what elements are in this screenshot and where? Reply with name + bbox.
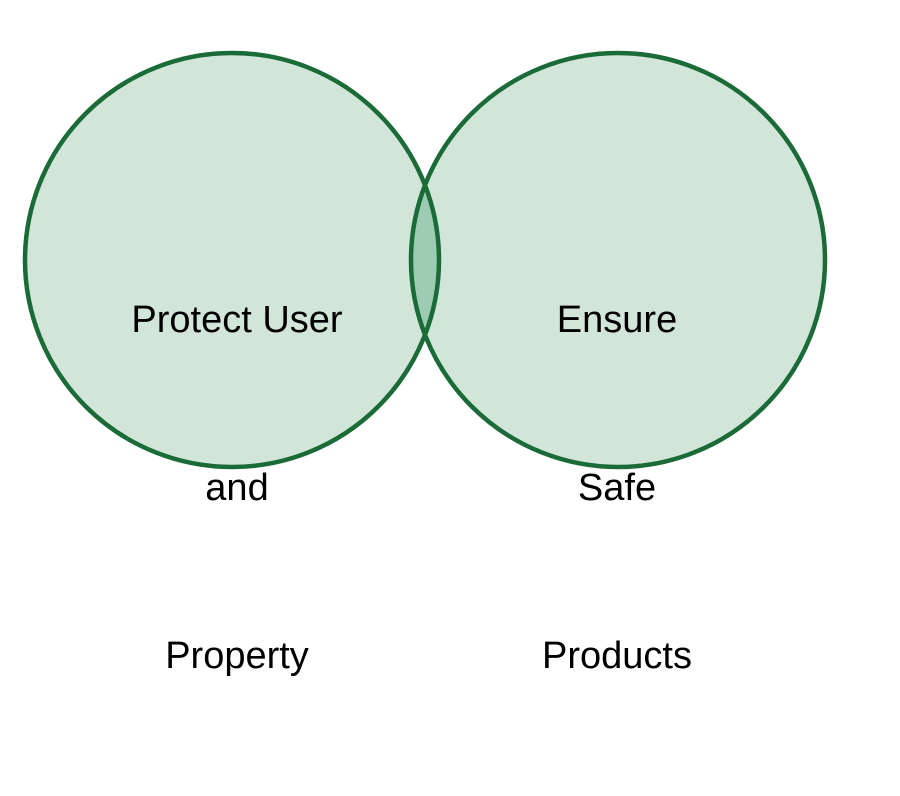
venn-label-right-line-1: Ensure bbox=[437, 292, 797, 348]
venn-label-right: Ensure Safe Products bbox=[437, 180, 797, 796]
venn-label-left: Protect User and Property bbox=[57, 180, 417, 796]
venn-diagram-canvas: Protect User and Property Ensure Safe Pr… bbox=[0, 0, 900, 522]
venn-label-left-line-1: Protect User bbox=[57, 292, 417, 348]
venn-label-left-line-2: and bbox=[57, 460, 417, 516]
venn-label-left-line-3: Property bbox=[57, 628, 417, 684]
venn-label-right-line-3: Products bbox=[437, 628, 797, 684]
venn-label-right-line-2: Safe bbox=[437, 460, 797, 516]
